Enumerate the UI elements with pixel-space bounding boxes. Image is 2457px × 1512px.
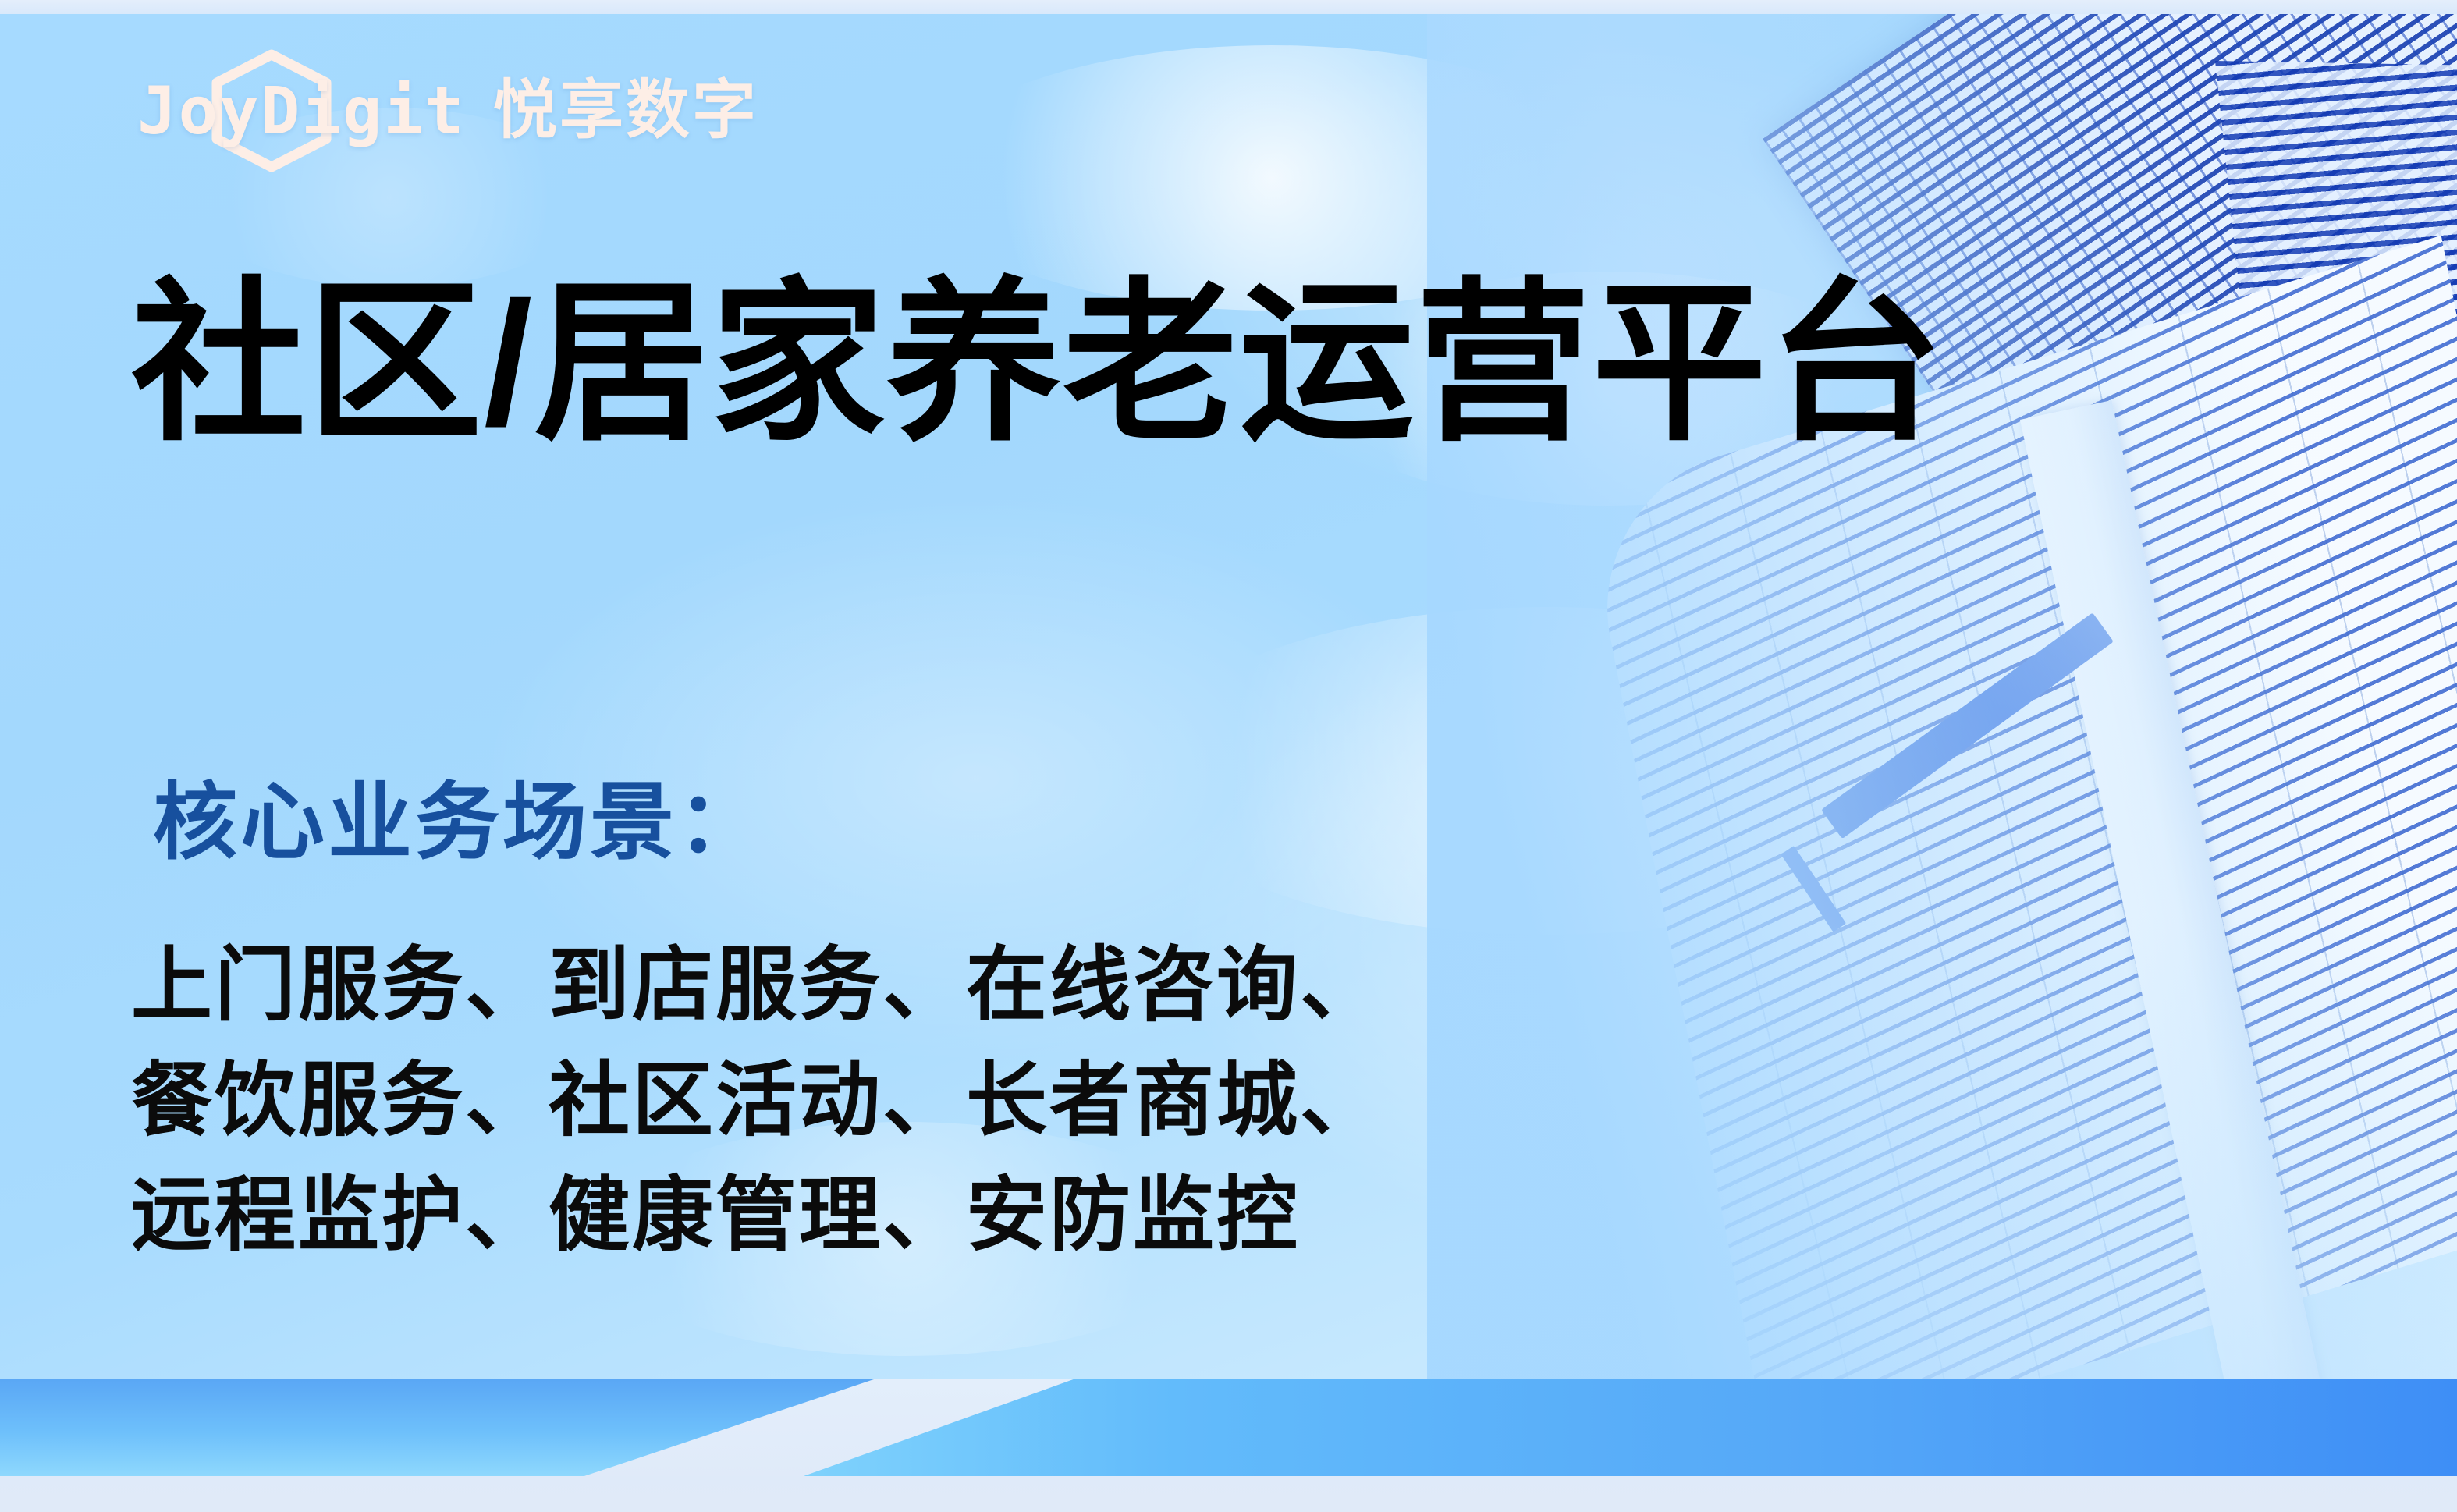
- scenario-list: 上门服务、到店服务、在线咨询、 餐饮服务、社区活动、长者商城、 远程监护、健康管…: [131, 928, 1383, 1274]
- top-edge-strip: [0, 0, 2457, 14]
- logo-wordmark: JoyDigit: [137, 78, 466, 144]
- band-main-shape: [804, 1379, 2457, 1476]
- logo-mark: JoyDigit: [137, 66, 473, 156]
- page-title: 社区/居家养老运营平台: [131, 270, 1944, 459]
- logo-chinese-name: 悦享数字: [493, 79, 758, 143]
- cloud-shape: [1139, 607, 1958, 935]
- band-left-shape: [0, 1379, 874, 1476]
- section-heading: 核心业务场景：: [153, 780, 765, 864]
- scenario-line: 远程监护、健康管理、安防监控: [131, 1159, 1383, 1274]
- slide-root: JoyDigit 悦享数字 社区/居家养老运营平台 核心业务场景： 上门服务、到…: [0, 0, 2457, 1512]
- scenario-line: 餐饮服务、社区活动、长者商城、: [131, 1044, 1383, 1159]
- scenario-line: 上门服务、到店服务、在线咨询、: [131, 928, 1383, 1044]
- brand-logo[interactable]: JoyDigit 悦享数字: [137, 66, 758, 156]
- cloud-shape: [1600, 935, 2302, 1262]
- band-baseline: [0, 1476, 2457, 1512]
- bottom-decorative-band: [0, 1379, 2457, 1512]
